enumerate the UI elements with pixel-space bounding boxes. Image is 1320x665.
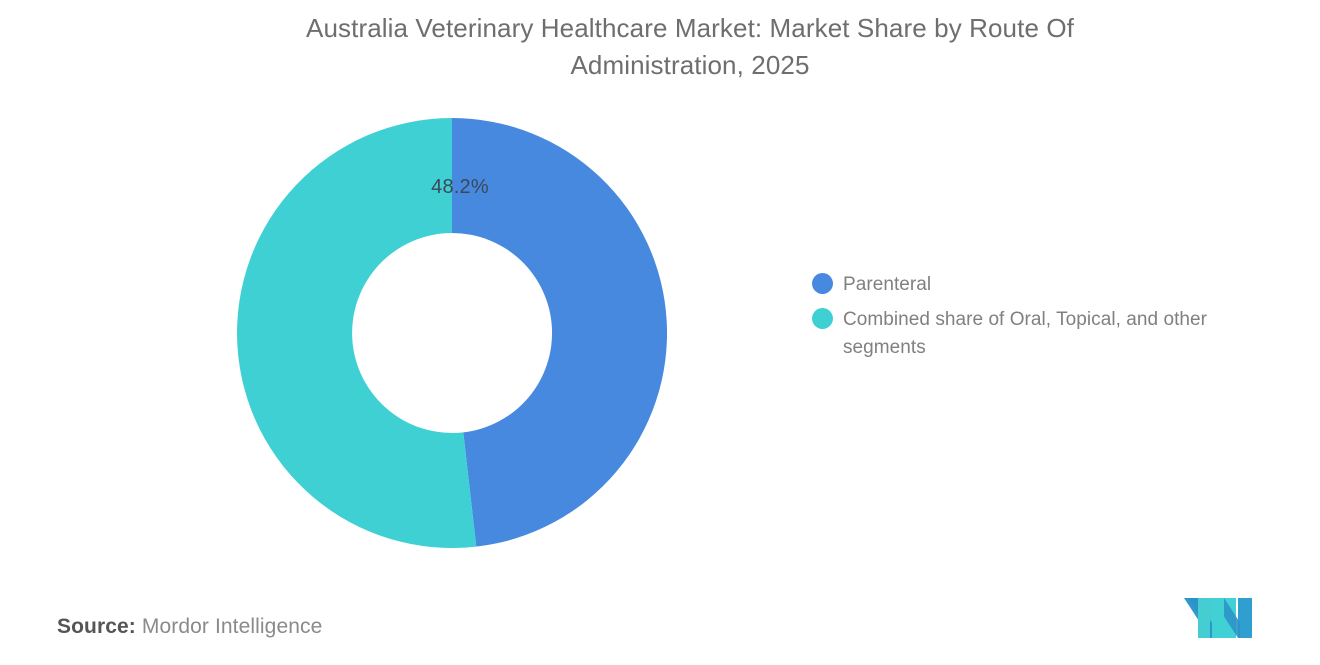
- legend-item-parenteral[interactable]: Parenteral: [812, 271, 1252, 299]
- source-label: Source:: [57, 615, 136, 638]
- legend-item-combined-share[interactable]: Combined share of Oral, Topical, and oth…: [812, 306, 1252, 362]
- legend-label-parenteral: Parenteral: [843, 271, 931, 299]
- source-name: Mordor Intelligence: [142, 615, 323, 638]
- legend-swatch-icon-parenteral: [812, 273, 833, 294]
- pie-slice-value-label: 48.2%: [395, 176, 525, 199]
- source-attribution: Source:Mordor Intelligence: [57, 613, 322, 641]
- chart-legend: Parenteral Combined share of Oral, Topic…: [812, 271, 1252, 369]
- chart-title: Australia Veterinary Healthcare Market: …: [210, 10, 1170, 84]
- mi-logo-svg: [1182, 592, 1254, 638]
- mordor-intelligence-logo-icon: [1182, 592, 1254, 638]
- legend-swatch-icon-combined-share: [812, 308, 833, 329]
- legend-label-combined-share: Combined share of Oral, Topical, and oth…: [843, 306, 1243, 362]
- chart-figure: Australia Veterinary Healthcare Market: …: [0, 0, 1320, 665]
